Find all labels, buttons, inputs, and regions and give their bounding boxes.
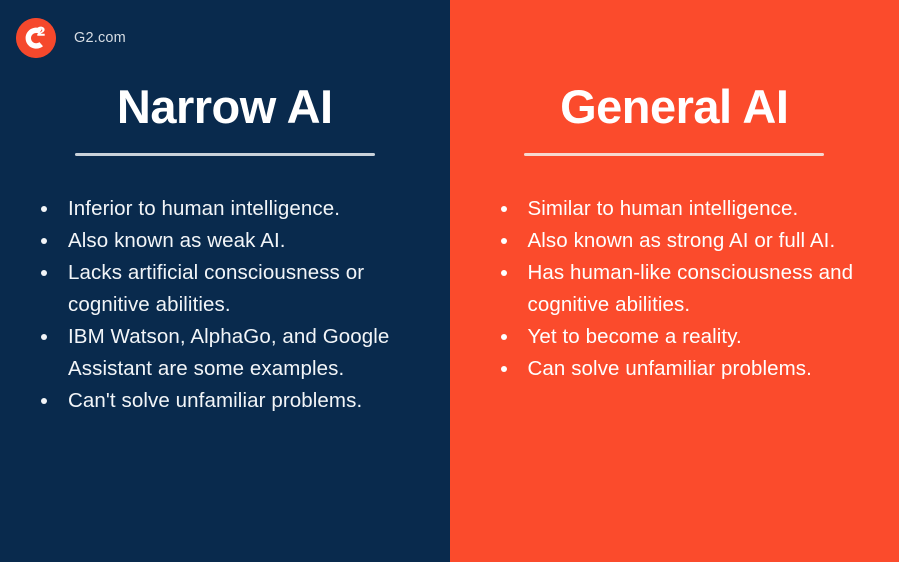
panel-general-ai: General AI Similar to human intelligence…: [450, 0, 899, 562]
page-title-narrow-ai: Narrow AI: [0, 82, 450, 131]
brand-header: G2.com: [16, 18, 126, 58]
comparison-slide: G2.com Narrow AI Inferior to human intel…: [0, 0, 899, 562]
list-item: Inferior to human intelligence.: [40, 193, 424, 225]
list-item: Also known as strong AI or full AI.: [500, 225, 880, 257]
bullet-dot-icon: [501, 366, 507, 372]
list-item-text: Lacks artificial consciousness or cognit…: [68, 261, 364, 316]
g2-logo-icon: [16, 18, 56, 58]
title-divider-right: [524, 153, 824, 156]
bullet-dot-icon: [41, 206, 47, 212]
list-item-text: Has human-like consciousness and cogniti…: [528, 261, 854, 316]
list-item-text: Inferior to human intelligence.: [68, 197, 340, 220]
bullet-dot-icon: [501, 270, 507, 276]
list-item: Yet to become a reality.: [500, 321, 880, 353]
list-item-text: Can't solve unfamiliar problems.: [68, 389, 362, 412]
panel-narrow-ai: G2.com Narrow AI Inferior to human intel…: [0, 0, 450, 562]
bullet-dot-icon: [501, 334, 507, 340]
list-item: Similar to human intelligence.: [500, 193, 880, 225]
list-item: Can solve unfamiliar problems.: [500, 353, 880, 385]
list-item-text: IBM Watson, AlphaGo, and Google Assistan…: [68, 325, 389, 380]
brand-name: G2.com: [74, 30, 126, 46]
bullet-dot-icon: [41, 270, 47, 276]
bullet-dot-icon: [41, 334, 47, 340]
bullet-dot-icon: [41, 398, 47, 404]
list-item-text: Yet to become a reality.: [528, 325, 742, 348]
list-item: Can't solve unfamiliar problems.: [40, 385, 424, 417]
title-divider-left: [75, 153, 375, 156]
bullet-list-narrow-ai: Inferior to human intelligence. Also kno…: [40, 193, 424, 417]
list-item: Has human-like consciousness and cogniti…: [500, 257, 880, 321]
list-item: IBM Watson, AlphaGo, and Google Assistan…: [40, 321, 424, 385]
list-item-text: Can solve unfamiliar problems.: [528, 357, 812, 380]
list-item-text: Also known as strong AI or full AI.: [528, 229, 836, 252]
page-title-general-ai: General AI: [450, 82, 899, 131]
list-item-text: Also known as weak AI.: [68, 229, 286, 252]
bullet-dot-icon: [501, 238, 507, 244]
list-item: Also known as weak AI.: [40, 225, 424, 257]
list-item-text: Similar to human intelligence.: [528, 197, 799, 220]
bullet-dot-icon: [501, 206, 507, 212]
bullet-dot-icon: [41, 238, 47, 244]
list-item: Lacks artificial consciousness or cognit…: [40, 257, 424, 321]
bullet-list-general-ai: Similar to human intelligence. Also know…: [500, 193, 880, 385]
